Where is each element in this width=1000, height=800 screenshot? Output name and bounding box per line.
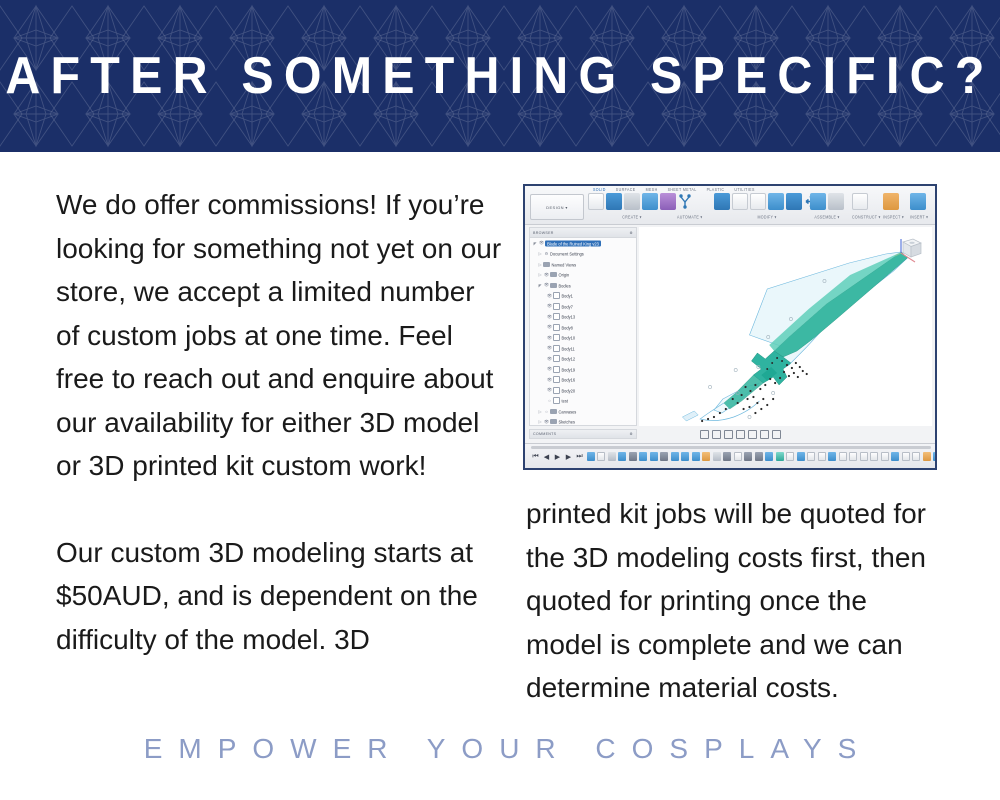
visibility-eye-icon[interactable]: 👁 <box>543 272 550 278</box>
tree-item-body[interactable]: 👁 Body7 <box>530 301 636 312</box>
right-text-column: printed kit jobs will be quoted for the … <box>526 492 936 710</box>
timeline-feature-icon[interactable] <box>671 452 679 461</box>
sword-3d-model <box>639 227 932 426</box>
browser-title: BROWSER <box>533 231 554 235</box>
tree-item-bodies[interactable]: ◤ 👁 Bodies <box>530 280 636 291</box>
body-icon <box>553 355 560 362</box>
left-text-column: We do offer commissions! If you’re looki… <box>56 183 504 661</box>
joint-icon[interactable] <box>828 193 844 210</box>
visibility-eye-icon[interactable]: 👁 <box>546 345 553 351</box>
ribbon-group-modify: MODIFY ▾ <box>714 193 820 223</box>
visibility-eye-icon[interactable]: 👁 <box>546 314 553 320</box>
tree-item-body[interactable]: 👁 Body20 <box>530 385 636 396</box>
body-icon <box>553 303 560 310</box>
browser-settings-icon[interactable]: ⚙ <box>629 231 633 235</box>
page-title: AFTER SOMETHING SPECIFIC? <box>35 0 965 152</box>
automate-icon[interactable] <box>677 193 693 210</box>
body-icon <box>553 313 560 320</box>
visibility-eye-icon[interactable]: 👁 <box>546 356 553 362</box>
design-workspace-dropdown[interactable]: DESIGN ▾ <box>530 194 584 220</box>
cad-ribbon-toolbar: SOLID SURFACE MESH SHEET METAL PLASTIC U… <box>525 186 935 225</box>
timeline-feature-icon[interactable] <box>839 452 847 461</box>
timeline-feature-icon[interactable] <box>786 452 794 461</box>
tree-label-bodies: Bodies <box>559 282 571 288</box>
ribbon-group-assemble: ASSEMBLE ▾ <box>810 193 844 223</box>
extrude-icon[interactable] <box>606 193 622 210</box>
timeline-feature-icon[interactable] <box>891 452 899 461</box>
cad-browser-panel[interactable]: BROWSER ⚙ ◤ 👁 Blade of the Ruined King v… <box>529 227 637 426</box>
comments-settings-icon[interactable]: ⚙ <box>629 432 633 436</box>
comments-label: COMMENTS <box>533 432 556 436</box>
tree-item-body[interactable]: 👁 Body16 <box>530 375 636 386</box>
paragraph-pricing-start: Our custom 3D modeling starts at $50AUD,… <box>56 531 504 662</box>
timeline-feature-icon[interactable] <box>702 452 710 461</box>
body-icon <box>553 345 560 352</box>
visibility-eye-icon[interactable]: ○ <box>543 409 550 414</box>
tree-label-body: Body8 <box>562 324 573 330</box>
timeline-feature-icons: ⏮ ◀ ▶ ▶ ⏭ <box>531 452 937 461</box>
paragraph-spacer <box>56 488 504 531</box>
paragraph-pricing-continued: printed kit jobs will be quoted for the … <box>526 492 936 710</box>
group-label-automate: AUTOMATE ▾ <box>677 215 702 220</box>
loft-icon[interactable] <box>660 193 676 210</box>
tree-label-body: Body16 <box>562 377 576 383</box>
visibility-eye-icon[interactable]: 👁 <box>546 335 553 341</box>
timeline-feature-icon[interactable] <box>587 452 595 461</box>
timeline-feature-icon[interactable] <box>639 452 647 461</box>
tree-label-body: Body10 <box>562 335 576 341</box>
tree-item-body[interactable]: ○ test <box>530 396 636 407</box>
group-label-create: CREATE ▾ <box>588 215 676 220</box>
tree-label-body: Body1 <box>562 293 573 299</box>
timeline-feature-icon[interactable] <box>870 452 878 461</box>
gear-icon: ⚙ <box>543 251 550 256</box>
tree-item-body[interactable]: 👁 Body1 <box>530 291 636 302</box>
body-icon <box>553 324 560 331</box>
tree-item-body[interactable]: 👁 Body19 <box>530 364 636 375</box>
tree-label-body: test <box>562 398 568 404</box>
timeline-feature-icon[interactable] <box>681 452 689 461</box>
timeline-feature-icon[interactable] <box>818 452 826 461</box>
timeline-feature-icon[interactable] <box>902 452 910 461</box>
pan-icon[interactable] <box>712 430 721 439</box>
timeline-last-icon[interactable]: ⏭ <box>575 453 584 461</box>
timeline-feature-icon[interactable] <box>650 452 658 461</box>
timeline-feature-icon[interactable] <box>881 452 889 461</box>
visibility-eye-icon[interactable]: 👁 <box>546 366 553 372</box>
tree-item-body[interactable]: 👁 Body10 <box>530 333 636 344</box>
tree-label-body: Body20 <box>562 387 576 393</box>
visibility-eye-icon[interactable]: 👁 <box>543 419 550 425</box>
folder-icon <box>550 272 557 277</box>
tree-item-document-settings[interactable]: ▷ ⚙ Document Settings <box>530 249 636 260</box>
visibility-eye-icon[interactable]: 👁 <box>546 303 553 309</box>
cad-view-toolbar[interactable] <box>680 429 800 439</box>
timeline-feature-icon[interactable] <box>660 452 668 461</box>
timeline-feature-icon[interactable] <box>765 452 773 461</box>
body-icon <box>553 397 560 404</box>
timeline-feature-icon[interactable] <box>723 452 731 461</box>
timeline-feature-icon[interactable] <box>755 452 763 461</box>
body-icon <box>553 376 560 383</box>
group-label-inspect: INSPECT ▾ <box>883 215 904 220</box>
body-icon <box>553 387 560 394</box>
body-icon <box>553 292 560 299</box>
timeline-scrollbar[interactable] <box>531 446 931 449</box>
timeline-feature-icon[interactable] <box>608 452 616 461</box>
tree-label-named-views: Named Views <box>552 261 577 267</box>
tree-label-body: Body12 <box>562 356 576 362</box>
ribbon-group-construct: CONSTRUCT ▾ <box>852 193 881 223</box>
tree-root-label: Blade of the Ruined King v23 <box>545 240 601 246</box>
folder-icon <box>550 419 557 424</box>
tree-label-body: Body11 <box>562 345 575 351</box>
tree-item-origin[interactable]: ▷ 👁 Origin <box>530 270 636 281</box>
timeline-feature-icon[interactable] <box>860 452 868 461</box>
timeline-feature-icon[interactable] <box>744 452 752 461</box>
ribbon-group-insert: INSERT ▾ <box>910 193 928 223</box>
cad-software-screenshot: SOLID SURFACE MESH SHEET METAL PLASTIC U… <box>523 184 937 470</box>
timeline-feature-icon[interactable] <box>797 452 805 461</box>
display-settings-icon[interactable] <box>748 430 757 439</box>
tree-item-body[interactable]: 👁 Body11 <box>530 343 636 354</box>
body-icon <box>553 334 560 341</box>
sweep-icon[interactable] <box>642 193 658 210</box>
combine-icon[interactable] <box>786 193 802 210</box>
timeline-feature-icon[interactable] <box>933 452 937 461</box>
visibility-eye-icon[interactable]: ○ <box>546 398 553 403</box>
timeline-prev-icon[interactable]: ◀ <box>542 453 551 461</box>
cad-timeline-bar[interactable]: ⏮ ◀ ▶ ▶ ⏭ <box>525 443 935 468</box>
new-component-icon[interactable] <box>810 193 826 210</box>
revolve-icon[interactable] <box>624 193 640 210</box>
visibility-eye-icon[interactable]: 👁 <box>543 282 550 288</box>
tree-label-sketches: Sketches <box>559 419 575 425</box>
cad-3d-viewport[interactable] <box>639 227 932 426</box>
ribbon-group-create: CREATE ▾ <box>588 193 676 223</box>
ribbon-group-automate: AUTOMATE ▾ <box>677 193 702 223</box>
timeline-feature-icon[interactable] <box>807 452 815 461</box>
measure-icon[interactable] <box>883 193 899 210</box>
offset-plane-icon[interactable] <box>852 193 868 210</box>
visibility-eye-icon[interactable]: 👁 <box>546 324 553 330</box>
viewcube-navigation-widget[interactable] <box>891 233 925 267</box>
timeline-feature-icon[interactable] <box>849 452 857 461</box>
browser-panel-header: BROWSER ⚙ <box>530 228 636 238</box>
tree-item-root[interactable]: ◤ 👁 Blade of the Ruined King v23 <box>530 238 636 249</box>
group-label-assemble: ASSEMBLE ▾ <box>810 215 844 220</box>
group-label-modify: MODIFY ▾ <box>714 215 820 220</box>
visibility-eye-icon[interactable]: 👁 <box>538 240 545 246</box>
timeline-first-icon[interactable]: ⏮ <box>531 453 540 461</box>
tree-item-named-views[interactable]: ▷ Named Views <box>530 259 636 270</box>
folder-icon <box>550 409 557 414</box>
tree-label-document-settings: Document Settings <box>550 251 584 257</box>
shell-icon[interactable] <box>768 193 784 210</box>
tree-item-sketches[interactable]: ▷ 👁 Sketches <box>530 417 636 428</box>
footer-tagline: EMPOWER YOUR COSPLAYS <box>0 733 1000 765</box>
tree-label-body: Body19 <box>562 366 576 372</box>
new-sketch-icon[interactable] <box>588 193 604 210</box>
folder-icon <box>550 283 557 288</box>
zoom-icon[interactable] <box>724 430 733 439</box>
tree-label-origin: Origin <box>559 272 570 278</box>
header-banner: AFTER SOMETHING SPECIFIC? <box>0 0 1000 152</box>
timeline-feature-icon[interactable] <box>629 452 637 461</box>
tree-item-body[interactable]: 👁 Body12 <box>530 354 636 365</box>
press-pull-icon[interactable] <box>714 193 730 210</box>
cad-comments-panel[interactable]: COMMENTS ⚙ <box>529 429 637 439</box>
visibility-eye-icon[interactable]: 👁 <box>546 387 553 393</box>
orbit-icon[interactable] <box>700 430 709 439</box>
folder-icon <box>543 262 550 267</box>
viewports-icon[interactable] <box>772 430 781 439</box>
tree-label-body: Body7 <box>562 303 573 309</box>
paragraph-commissions-intro: We do offer commissions! If you’re looki… <box>56 183 504 488</box>
timeline-feature-icon[interactable] <box>923 452 931 461</box>
tree-item-body[interactable]: 👁 Body8 <box>530 322 636 333</box>
ribbon-group-inspect: INSPECT ▾ <box>883 193 904 223</box>
fillet-icon[interactable] <box>732 193 748 210</box>
visibility-eye-icon[interactable]: 👁 <box>546 293 553 299</box>
timeline-next-icon[interactable]: ▶ <box>564 453 573 461</box>
body-icon <box>553 366 560 373</box>
tree-label-canvases: Canvases <box>559 408 577 414</box>
timeline-feature-icon[interactable] <box>828 452 836 461</box>
fit-icon[interactable] <box>736 430 745 439</box>
visibility-eye-icon[interactable]: 👁 <box>546 377 553 383</box>
timeline-feature-icon[interactable] <box>618 452 626 461</box>
timeline-feature-icon[interactable] <box>734 452 742 461</box>
timeline-feature-icon[interactable] <box>692 452 700 461</box>
grid-snap-icon[interactable] <box>760 430 769 439</box>
tree-item-canvases[interactable]: ▷ ○ Canvases <box>530 406 636 417</box>
timeline-feature-icon[interactable] <box>912 452 920 461</box>
insert-mcmaster-icon[interactable] <box>910 193 926 210</box>
group-label-construct: CONSTRUCT ▾ <box>852 215 881 220</box>
chamfer-icon[interactable] <box>750 193 766 210</box>
group-label-insert: INSERT ▾ <box>910 215 928 220</box>
timeline-play-icon[interactable]: ▶ <box>553 453 562 461</box>
timeline-feature-icon[interactable] <box>713 452 721 461</box>
timeline-feature-icon[interactable] <box>597 452 605 461</box>
tree-item-body[interactable]: 👁 Body13 <box>530 312 636 323</box>
timeline-feature-icon[interactable] <box>776 452 784 461</box>
tree-label-body: Body13 <box>562 314 576 320</box>
